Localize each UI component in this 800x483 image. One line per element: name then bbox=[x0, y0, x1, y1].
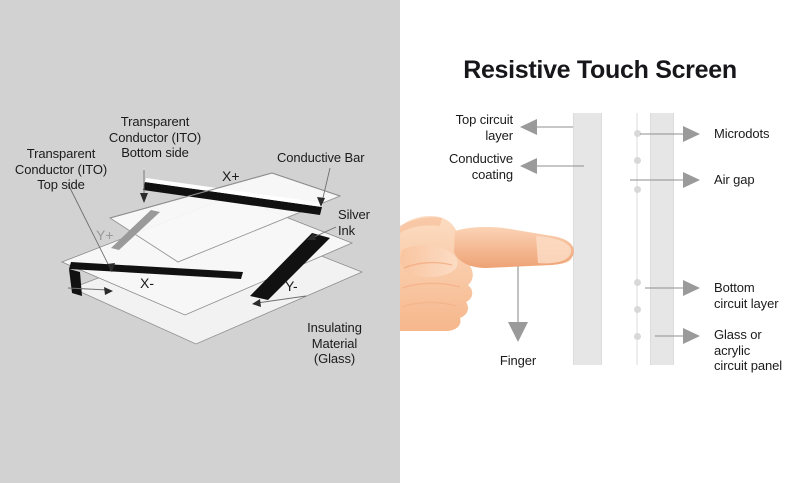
label-axis-y-minus: Y- bbox=[285, 278, 298, 294]
label-insulating-material: Insulating Material (Glass) bbox=[282, 320, 387, 367]
arrow-air-gap bbox=[630, 172, 700, 188]
label-bottom-circuit-layer: Bottom circuit layer bbox=[714, 280, 800, 311]
label-silver-ink: Silver Ink bbox=[338, 207, 398, 238]
arrow-conductive-coating bbox=[520, 158, 584, 174]
arrow-finger-direction bbox=[508, 262, 528, 342]
label-axis-y-plus: Y+ bbox=[96, 227, 114, 243]
arrow-glass-acrylic-panel bbox=[655, 328, 700, 344]
label-air-gap: Air gap bbox=[714, 172, 800, 188]
label-conductive-bar: Conductive Bar bbox=[277, 150, 397, 166]
pointing-hand-illustration bbox=[400, 216, 574, 331]
label-finger: Finger bbox=[478, 353, 558, 369]
label-conductive-coating: Conductive coating bbox=[410, 151, 513, 182]
label-axis-x-plus: X+ bbox=[222, 168, 240, 184]
label-ito-bottom-side: Transparent Conductor (ITO) Bottom side bbox=[92, 114, 218, 161]
label-axis-x-minus: X- bbox=[140, 275, 154, 291]
label-glass-or-acrylic-panel: Glass or acrylic circuit panel bbox=[714, 327, 800, 374]
arrow-top-circuit-layer bbox=[520, 119, 573, 135]
arrow-bottom-circuit-layer bbox=[645, 280, 700, 296]
diagram-canvas: Resistive Touch Screen bbox=[0, 0, 800, 483]
label-top-circuit-layer: Top circuit layer bbox=[418, 112, 513, 143]
arrow-microdots bbox=[640, 126, 700, 142]
label-microdots: Microdots bbox=[714, 126, 800, 142]
lineart-overlay bbox=[0, 0, 800, 483]
